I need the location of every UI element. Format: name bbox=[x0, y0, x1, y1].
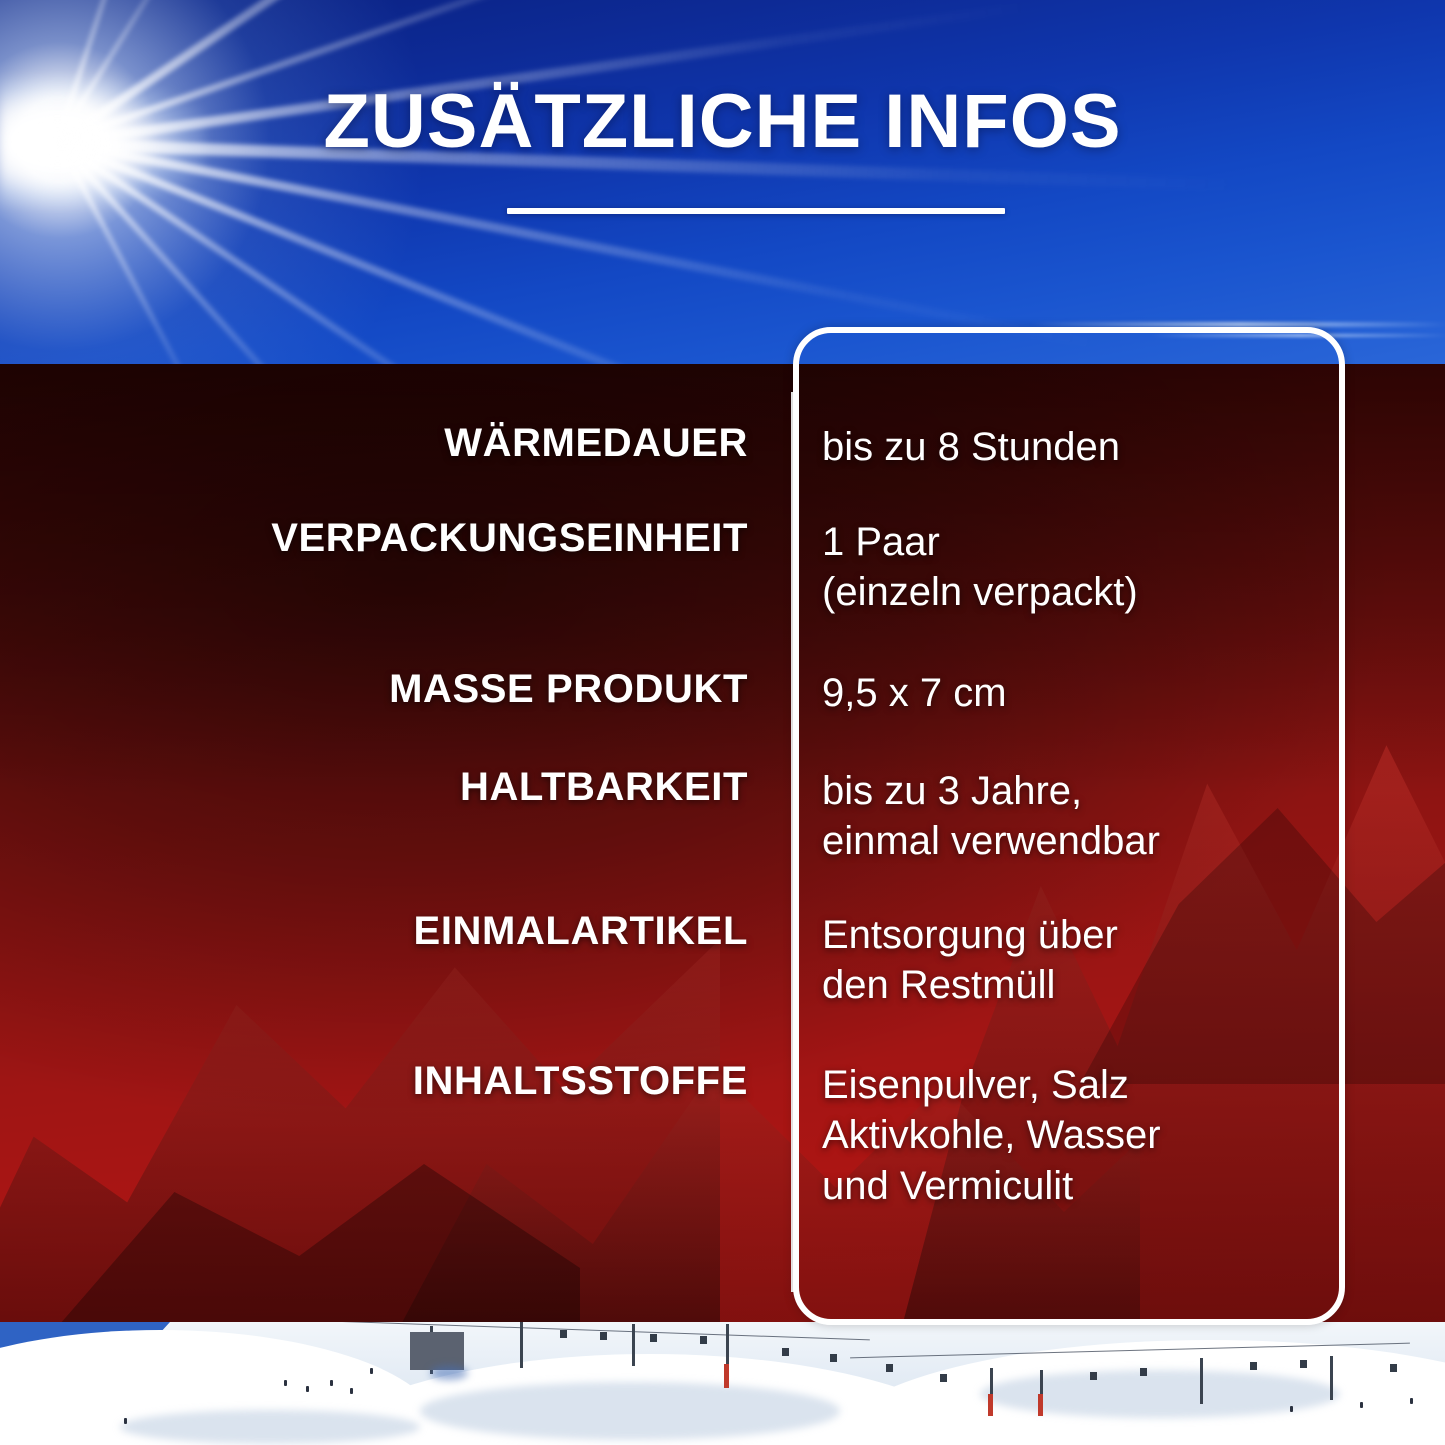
spec-label: WÄRMEDAUER bbox=[0, 422, 772, 472]
spec-row: EINMALARTIKEL Entsorgung über den Restmü… bbox=[0, 910, 1445, 1011]
spec-label: VERPACKUNGSEINHEIT bbox=[0, 517, 772, 618]
spec-row: WÄRMEDAUER bis zu 8 Stunden bbox=[0, 422, 1445, 472]
spec-label: INHALTSSTOFFE bbox=[0, 1060, 772, 1211]
spec-value: 9,5 x 7 cm bbox=[772, 668, 1445, 718]
spec-value: Eisenpulver, Salz Aktivkohle, Wasser und… bbox=[772, 1060, 1445, 1211]
spec-value: bis zu 3 Jahre, einmal verwendbar bbox=[772, 766, 1445, 867]
spec-row: HALTBARKEIT bis zu 3 Jahre, einmal verwe… bbox=[0, 766, 1445, 867]
spec-value: 1 Paar (einzeln verpackt) bbox=[772, 517, 1445, 618]
spec-row: VERPACKUNGSEINHEIT 1 Paar (einzeln verpa… bbox=[0, 517, 1445, 618]
spec-table: WÄRMEDAUER bis zu 8 Stunden VERPACKUNGSE… bbox=[0, 0, 1445, 1445]
spec-label: EINMALARTIKEL bbox=[0, 910, 772, 1011]
spec-label: HALTBARKEIT bbox=[0, 766, 772, 867]
spec-label: MASSE PRODUKT bbox=[0, 668, 772, 718]
spec-row: MASSE PRODUKT 9,5 x 7 cm bbox=[0, 668, 1445, 718]
spec-row: INHALTSSTOFFE Eisenpulver, Salz Aktivkoh… bbox=[0, 1060, 1445, 1211]
spec-value: bis zu 8 Stunden bbox=[772, 422, 1445, 472]
spec-value: Entsorgung über den Restmüll bbox=[772, 910, 1445, 1011]
infographic-canvas: ZUSÄTZLICHE INFOS WÄRMEDAUER bis zu 8 St… bbox=[0, 0, 1445, 1445]
